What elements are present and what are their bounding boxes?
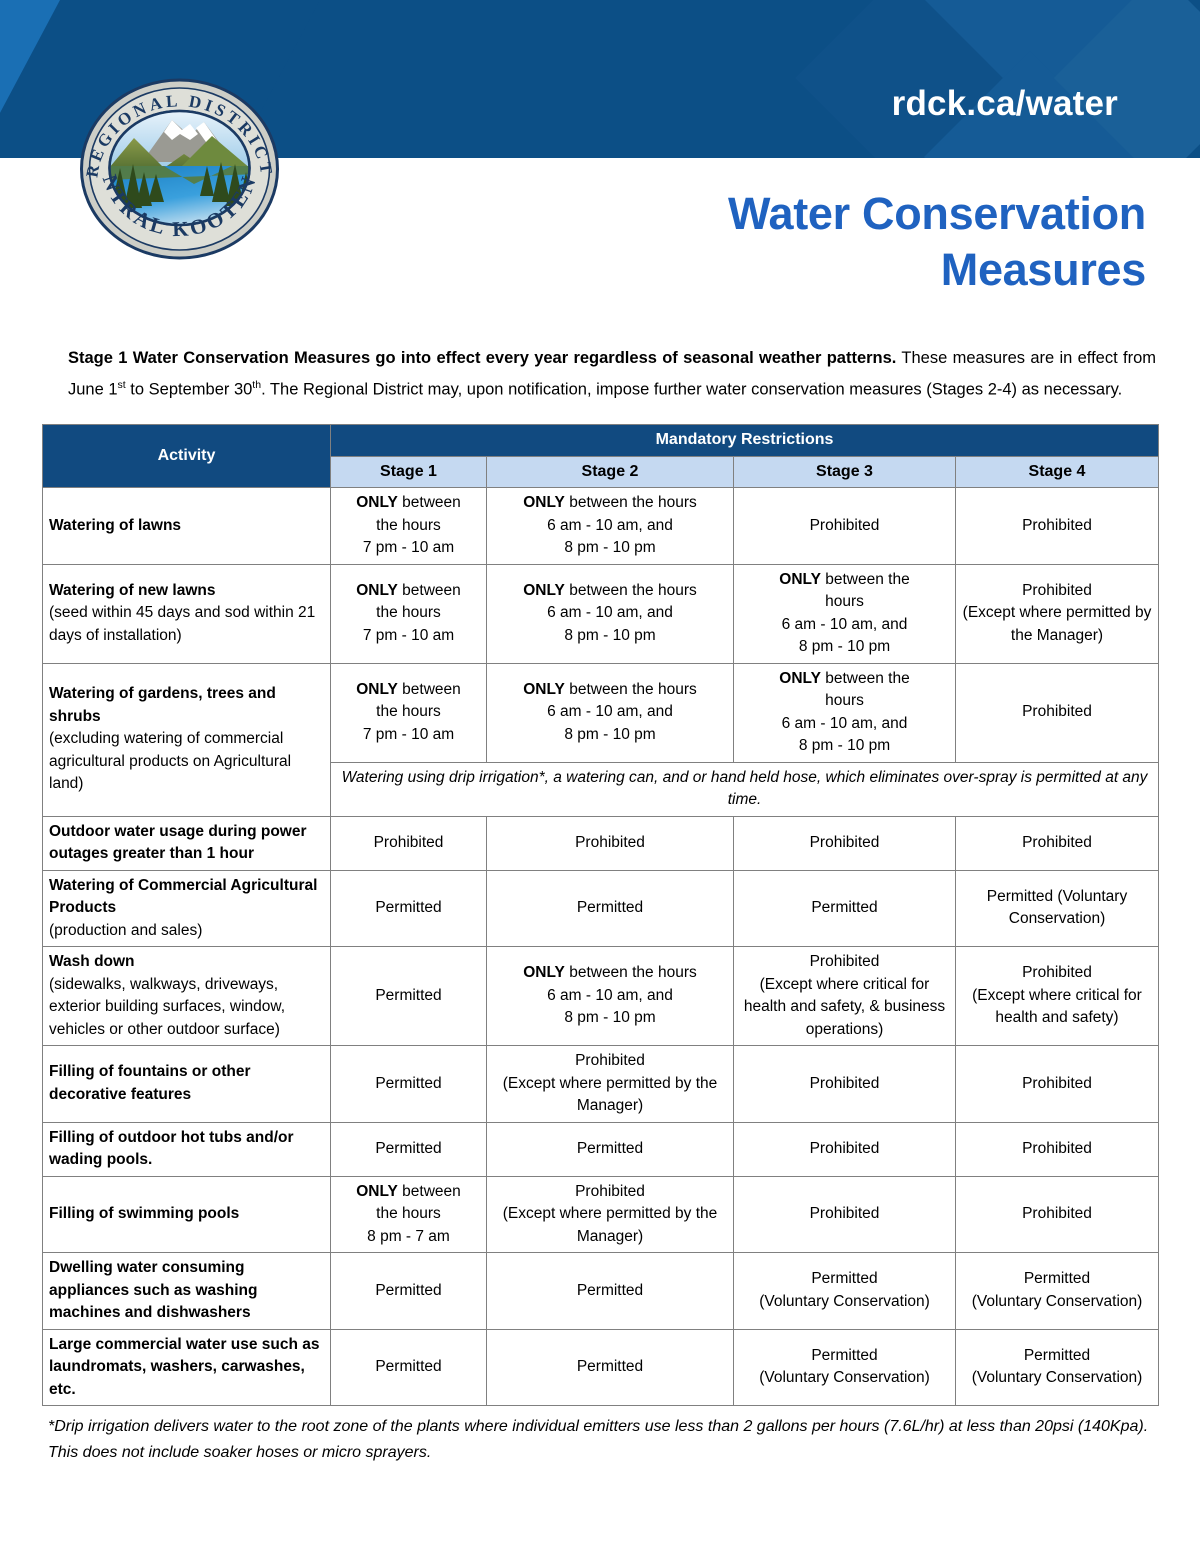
cell-stage-2: ONLY between the hours6 am - 10 am, and8…	[487, 564, 734, 663]
activity-title: Watering of Commercial Agricultural Prod…	[49, 875, 324, 920]
cell-stage-4: Prohibited(Except where critical for hea…	[956, 947, 1159, 1046]
table-row: Large commercial water use such as laund…	[43, 1329, 1159, 1406]
cell-stage-4: Prohibited(Except where permitted by the…	[956, 564, 1159, 663]
activity-title: Watering of gardens, trees and shrubs	[49, 683, 324, 728]
cell-stage-1: Permitted	[331, 870, 487, 947]
cell-stage-2: ONLY between the hours6 am - 10 am, and8…	[487, 663, 734, 762]
cell-stage-4: Permitted (Voluntary Conservation)	[956, 870, 1159, 947]
header-stage-4: Stage 4	[956, 456, 1159, 488]
activity-title: Dwelling water consuming appliances such…	[49, 1257, 324, 1325]
table-row: Filling of fountains or other decorative…	[43, 1046, 1159, 1123]
cell-stage-3: ONLY between thehours6 am - 10 am, and8 …	[734, 663, 956, 762]
only-emphasis: ONLY	[523, 681, 565, 698]
cell-stage-3: Prohibited	[734, 816, 956, 870]
table-head: Activity Mandatory Restrictions Stage 1 …	[43, 425, 1159, 488]
intro-text-c: . The Regional District may, upon notifi…	[261, 380, 1122, 398]
table-row: Filling of outdoor hot tubs and/or wadin…	[43, 1122, 1159, 1176]
cell-stage-2: ONLY between the hours6 am - 10 am, and8…	[487, 947, 734, 1046]
cell-stage-3: Prohibited	[734, 488, 956, 565]
cell-stage-1: Permitted	[331, 1329, 487, 1406]
cell-stage-4: Permitted(Voluntary Conservation)	[956, 1253, 1159, 1330]
only-emphasis: ONLY	[356, 681, 398, 698]
activity-title: Large commercial water use such as laund…	[49, 1334, 324, 1402]
rdck-crest-logo: REGIONAL DISTRICT CENTRAL KOOTENAY	[72, 62, 287, 277]
crest-icon: REGIONAL DISTRICT CENTRAL KOOTENAY	[72, 62, 287, 277]
cell-stage-3: Prohibited	[734, 1176, 956, 1253]
table-body: Watering of lawnsONLY betweenthe hours7 …	[43, 488, 1159, 1406]
activity-title: Filling of outdoor hot tubs and/or wadin…	[49, 1127, 324, 1172]
cell-stage-4: Permitted(Voluntary Conservation)	[956, 1329, 1159, 1406]
cell-stage-3: Permitted(Voluntary Conservation)	[734, 1329, 956, 1406]
intro-sup-a: st	[118, 379, 126, 391]
intro-sup-b: th	[252, 379, 261, 391]
intro-bold-lead: Stage 1 Water Conservation Measures go i…	[68, 349, 896, 367]
activity-title: Filling of fountains or other decorative…	[49, 1061, 324, 1106]
cell-stage-4: Prohibited	[956, 1046, 1159, 1123]
only-emphasis: ONLY	[356, 494, 398, 511]
footnote-drip-irrigation: *Drip irrigation delivers water to the r…	[48, 1414, 1163, 1466]
activity-subtext: (production and sales)	[49, 920, 324, 943]
cell-activity: Watering of Commercial Agricultural Prod…	[43, 870, 331, 947]
table-row: Filling of swimming poolsONLY betweenthe…	[43, 1176, 1159, 1253]
header-stage-2: Stage 2	[487, 456, 734, 488]
cell-merged-note: Watering using drip irrigation*, a water…	[331, 762, 1159, 816]
cell-stage-4: Prohibited	[956, 488, 1159, 565]
cell-stage-2: Permitted	[487, 1253, 734, 1330]
header-activity: Activity	[43, 425, 331, 488]
cell-stage-2: Prohibited(Except where permitted by the…	[487, 1046, 734, 1123]
cell-activity: Watering of lawns	[43, 488, 331, 565]
table-row: Watering of Commercial Agricultural Prod…	[43, 870, 1159, 947]
table-row: Outdoor water usage during power outages…	[43, 816, 1159, 870]
cell-stage-4: Prohibited	[956, 1176, 1159, 1253]
cell-stage-3: Permitted	[734, 870, 956, 947]
cell-stage-2: Permitted	[487, 1122, 734, 1176]
website-url-text: rdck.ca/water	[892, 84, 1118, 124]
header-mandatory-restrictions: Mandatory Restrictions	[331, 425, 1159, 457]
restrictions-table-wrapper: Activity Mandatory Restrictions Stage 1 …	[42, 424, 1158, 1406]
cell-activity: Wash down(sidewalks, walkways, driveways…	[43, 947, 331, 1046]
intro-paragraph: Stage 1 Water Conservation Measures go i…	[68, 345, 1156, 404]
cell-stage-3: Prohibited	[734, 1122, 956, 1176]
only-emphasis: ONLY	[523, 964, 565, 981]
cell-stage-2: Prohibited(Except where permitted by the…	[487, 1176, 734, 1253]
cell-stage-2: Prohibited	[487, 816, 734, 870]
table-row: Watering of lawnsONLY betweenthe hours7 …	[43, 488, 1159, 565]
cell-stage-3: Prohibited(Except where critical for hea…	[734, 947, 956, 1046]
table-row: Wash down(sidewalks, walkways, driveways…	[43, 947, 1159, 1046]
intro-text-b: to September 30	[126, 380, 253, 398]
cell-activity: Filling of swimming pools	[43, 1176, 331, 1253]
activity-title: Outdoor water usage during power outages…	[49, 821, 324, 866]
cell-activity: Filling of fountains or other decorative…	[43, 1046, 331, 1123]
cell-stage-3: Prohibited	[734, 1046, 956, 1123]
only-emphasis: ONLY	[356, 582, 398, 599]
only-emphasis: ONLY	[523, 582, 565, 599]
only-emphasis: ONLY	[779, 571, 821, 588]
cell-stage-1: ONLY betweenthe hours8 pm - 7 am	[331, 1176, 487, 1253]
cell-stage-2: ONLY between the hours6 am - 10 am, and8…	[487, 488, 734, 565]
table-header-row-1: Activity Mandatory Restrictions	[43, 425, 1159, 457]
cell-stage-4: Prohibited	[956, 816, 1159, 870]
only-emphasis: ONLY	[523, 494, 565, 511]
cell-stage-3: Permitted(Voluntary Conservation)	[734, 1253, 956, 1330]
activity-title: Wash down	[49, 951, 324, 974]
cell-activity: Filling of outdoor hot tubs and/or wadin…	[43, 1122, 331, 1176]
activity-subtext: (sidewalks, walkways, driveways, exterio…	[49, 974, 324, 1042]
header-stage-1: Stage 1	[331, 456, 487, 488]
water-restrictions-table: Activity Mandatory Restrictions Stage 1 …	[42, 424, 1159, 1406]
only-emphasis: ONLY	[356, 1183, 398, 1200]
activity-subtext: (seed within 45 days and sod within 21 d…	[49, 602, 324, 647]
cell-stage-2: Permitted	[487, 870, 734, 947]
cell-stage-3: ONLY between thehours6 am - 10 am, and8 …	[734, 564, 956, 663]
cell-stage-1: ONLY betweenthe hours7 pm - 10 am	[331, 488, 487, 565]
cell-activity: Outdoor water usage during power outages…	[43, 816, 331, 870]
cell-stage-1: Permitted	[331, 947, 487, 1046]
cell-stage-1: Permitted	[331, 1046, 487, 1123]
table-row: Watering of new lawns(seed within 45 day…	[43, 564, 1159, 663]
cell-activity: Watering of gardens, trees and shrubs(ex…	[43, 663, 331, 816]
table-row: Dwelling water consuming appliances such…	[43, 1253, 1159, 1330]
activity-title: Filling of swimming pools	[49, 1203, 324, 1226]
activity-title: Watering of lawns	[49, 515, 324, 538]
cell-stage-1: Permitted	[331, 1253, 487, 1330]
activity-title: Watering of new lawns	[49, 580, 324, 603]
cell-stage-4: Prohibited	[956, 1122, 1159, 1176]
table-row: Watering of gardens, trees and shrubs(ex…	[43, 663, 1159, 762]
header-stage-3: Stage 3	[734, 456, 956, 488]
activity-subtext: (excluding watering of commercial agricu…	[49, 728, 324, 796]
cell-stage-1: ONLY betweenthe hours7 pm - 10 am	[331, 564, 487, 663]
cell-stage-1: Prohibited	[331, 816, 487, 870]
cell-activity: Watering of new lawns(seed within 45 day…	[43, 564, 331, 663]
cell-stage-1: Permitted	[331, 1122, 487, 1176]
only-emphasis: ONLY	[779, 670, 821, 687]
cell-activity: Large commercial water use such as laund…	[43, 1329, 331, 1406]
cell-stage-4: Prohibited	[956, 663, 1159, 762]
cell-stage-1: ONLY betweenthe hours7 pm - 10 am	[331, 663, 487, 762]
cell-stage-2: Permitted	[487, 1329, 734, 1406]
cell-activity: Dwelling water consuming appliances such…	[43, 1253, 331, 1330]
